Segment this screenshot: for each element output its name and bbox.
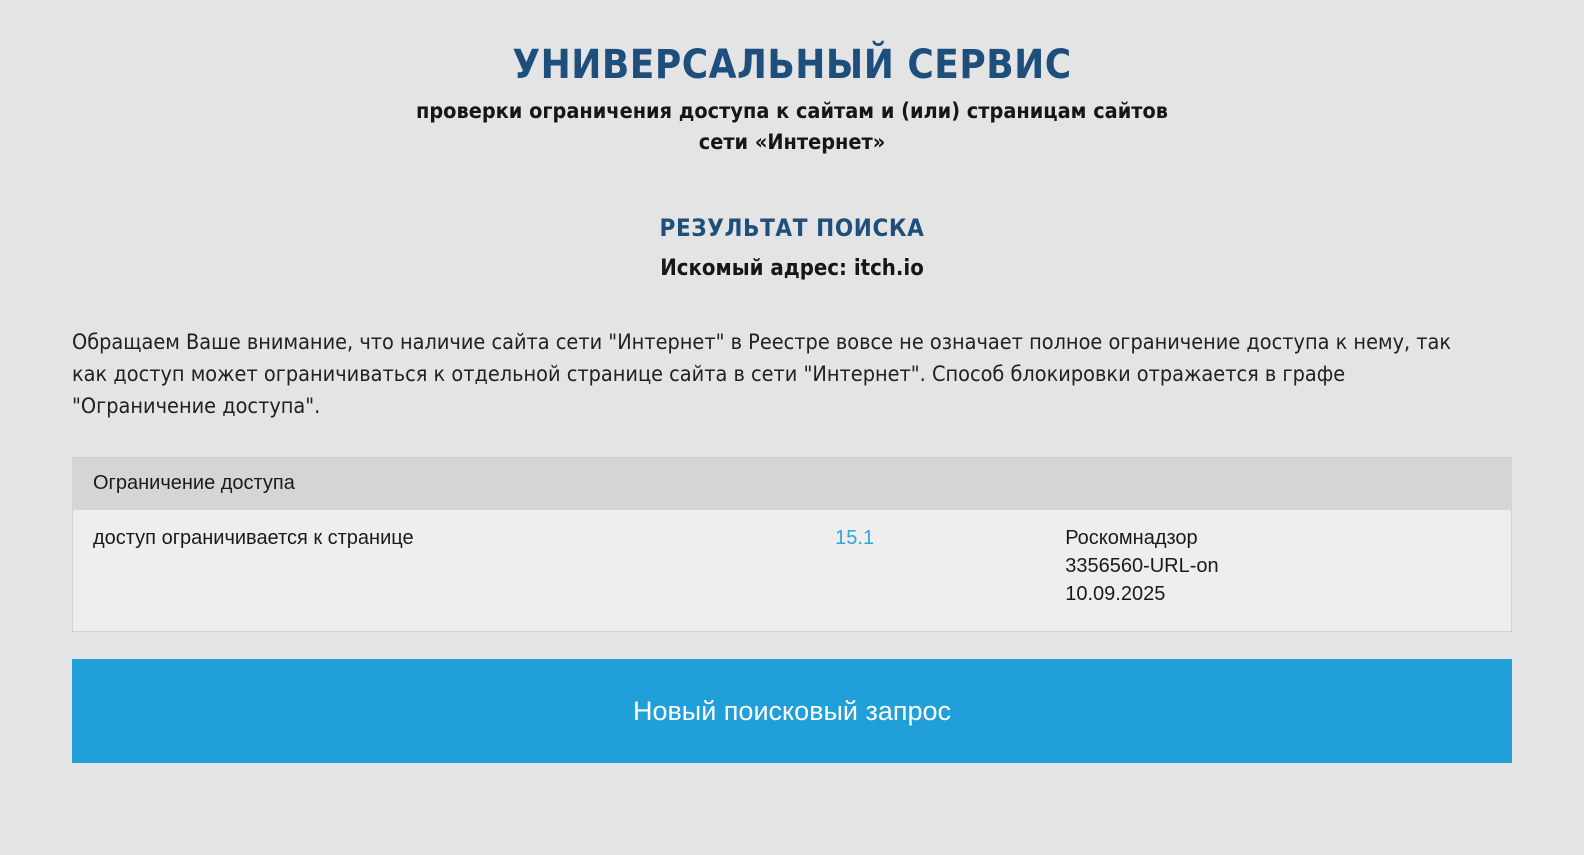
table-header-row: Ограничение доступа (73, 458, 1511, 510)
searched-address: Искомый адрес: itch.io (0, 256, 1584, 281)
cell-law-article-code[interactable]: 15.1 (835, 510, 1065, 631)
column-header-authority (1065, 458, 1511, 510)
search-result-header: РЕЗУЛЬТАТ ПОИСКА Искомый адрес: itch.io (0, 214, 1584, 281)
results-table-body: доступ ограничивается к странице 15.1 Ро… (73, 510, 1511, 631)
notice-text: Обращаем Ваше внимание, что наличие сайт… (0, 327, 1564, 422)
page-subtitle-line-2: сети «Интернет» (0, 128, 1584, 159)
new-search-button[interactable]: Новый поисковый запрос (72, 659, 1512, 763)
results-table: Ограничение доступа доступ ограничиваетс… (73, 458, 1511, 631)
cell-authority: Роскомнадзор 3356560-URL-on 10.09.2025 (1065, 510, 1511, 631)
column-header-restriction: Ограничение доступа (73, 458, 835, 510)
table-row: доступ ограничивается к странице 15.1 Ро… (73, 510, 1511, 631)
page-subtitle: проверки ограничения доступа к сайтам и … (0, 97, 1584, 158)
search-result-heading: РЕЗУЛЬТАТ ПОИСКА (0, 214, 1584, 242)
cell-restriction: доступ ограничивается к странице (73, 510, 835, 631)
page-title: УНИВЕРСАЛЬНЫЙ СЕРВИС (0, 44, 1584, 87)
results-table-container: Ограничение доступа доступ ограничиваетс… (72, 457, 1512, 632)
page-subtitle-line-1: проверки ограничения доступа к сайтам и … (0, 97, 1584, 128)
page-header: УНИВЕРСАЛЬНЫЙ СЕРВИС проверки ограничени… (0, 0, 1584, 158)
page-root: УНИВЕРСАЛЬНЫЙ СЕРВИС проверки ограничени… (0, 0, 1584, 855)
results-table-head: Ограничение доступа (73, 458, 1511, 510)
column-header-code (835, 458, 1065, 510)
